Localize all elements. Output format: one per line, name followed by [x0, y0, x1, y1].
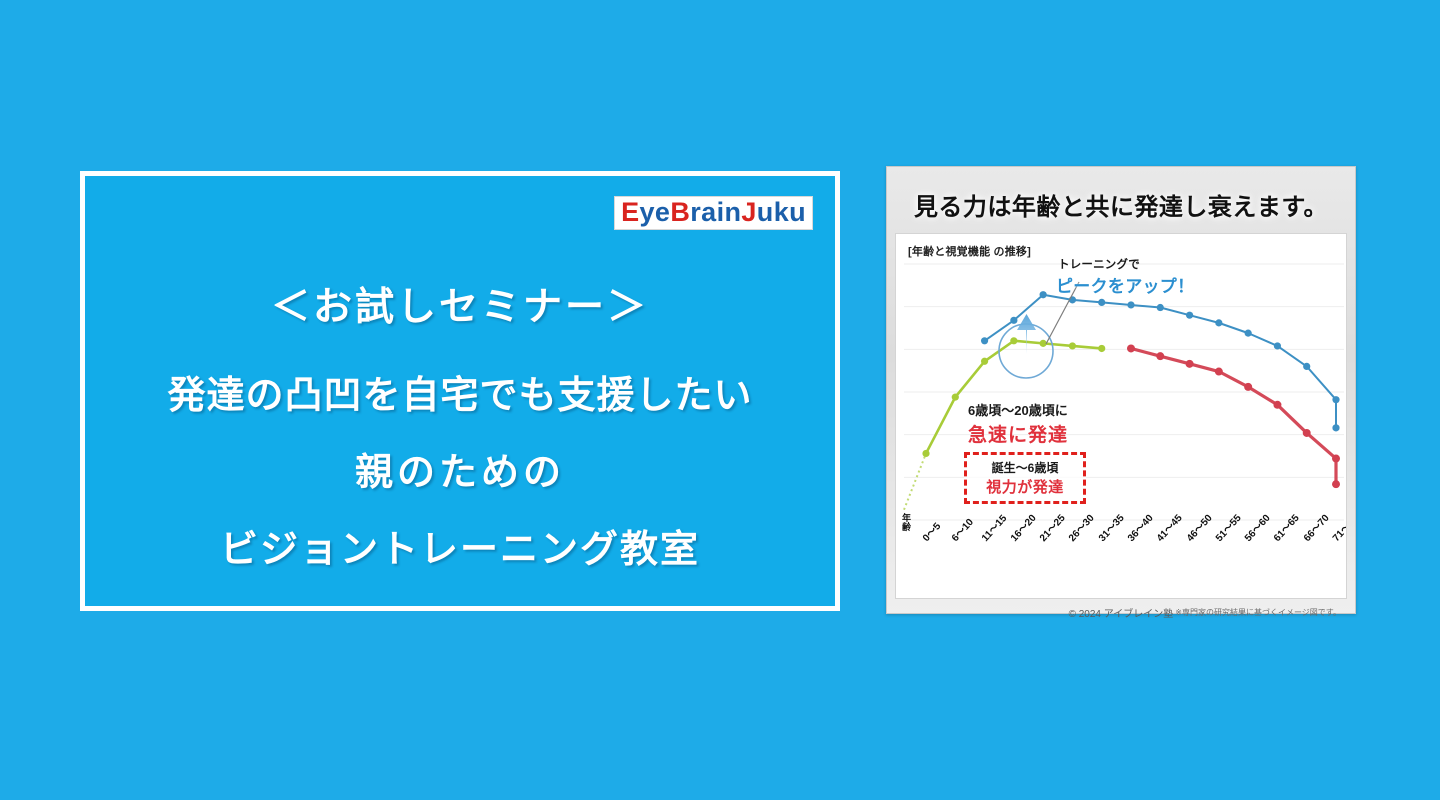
chart-panel-footer: © 2024 アイブレイン塾 ※専門家の研究結果に基づくイメージ図です。 — [895, 599, 1347, 625]
peak-up-arrow — [1017, 314, 1036, 354]
vision-function-line-chart — [896, 234, 1347, 599]
chart-gridlines — [904, 264, 1344, 520]
series-blue-trained — [981, 291, 1340, 431]
series-green-developing — [904, 337, 1105, 510]
chart-panel-title: 見る力は年齢と共に発達し衰えます。 — [895, 175, 1347, 233]
axis-age-label: 年 齢 — [902, 514, 912, 532]
promo-card: EyeBrainJuku ＜お試しセミナー＞ 発達の凸凹を自宅でも支援したい 親… — [80, 171, 840, 611]
eyebrainjuku-logo: EyeBrainJuku — [614, 196, 813, 230]
footer-note: ※専門家の研究結果に基づくイメージ図です。 — [1175, 607, 1341, 618]
promo-card-inner: EyeBrainJuku ＜お試しセミナー＞ 発達の凸凹を自宅でも支援したい 親… — [85, 176, 835, 606]
promo-line-3: ビジョントレーニング教室 — [85, 518, 835, 573]
callout-leader-line — [1046, 282, 1079, 344]
logo-part-b: B — [670, 197, 690, 227]
logo-part-rain: rain — [690, 197, 741, 227]
promo-line-1: 発達の凸凹を自宅でも支援したい — [85, 364, 835, 419]
logo-part-ye: ye — [640, 197, 671, 227]
chart-card: [年齢と視覚機能 の推移] トレーニングで ピークをアップ！ 6歳 — [895, 233, 1347, 599]
logo-part-j: J — [741, 197, 756, 227]
promo-heading: ＜お試しセミナー＞ — [85, 276, 835, 332]
promo-subtitle-block: 発達の凸凹を自宅でも支援したい 親のための ビジョントレーニング教室 — [85, 364, 835, 573]
logo-part-uku: uku — [757, 197, 806, 227]
promo-line-2: 親のための — [85, 441, 835, 496]
logo-part-e: E — [621, 197, 639, 227]
footer-copyright: © 2024 アイブレイン塾 — [1069, 605, 1174, 620]
chart-panel: 見る力は年齢と共に発達し衰えます。 [年齢と視覚機能 の推移] トレーニングで — [886, 166, 1356, 614]
axis-age-label-char-2: 齢 — [902, 523, 912, 532]
